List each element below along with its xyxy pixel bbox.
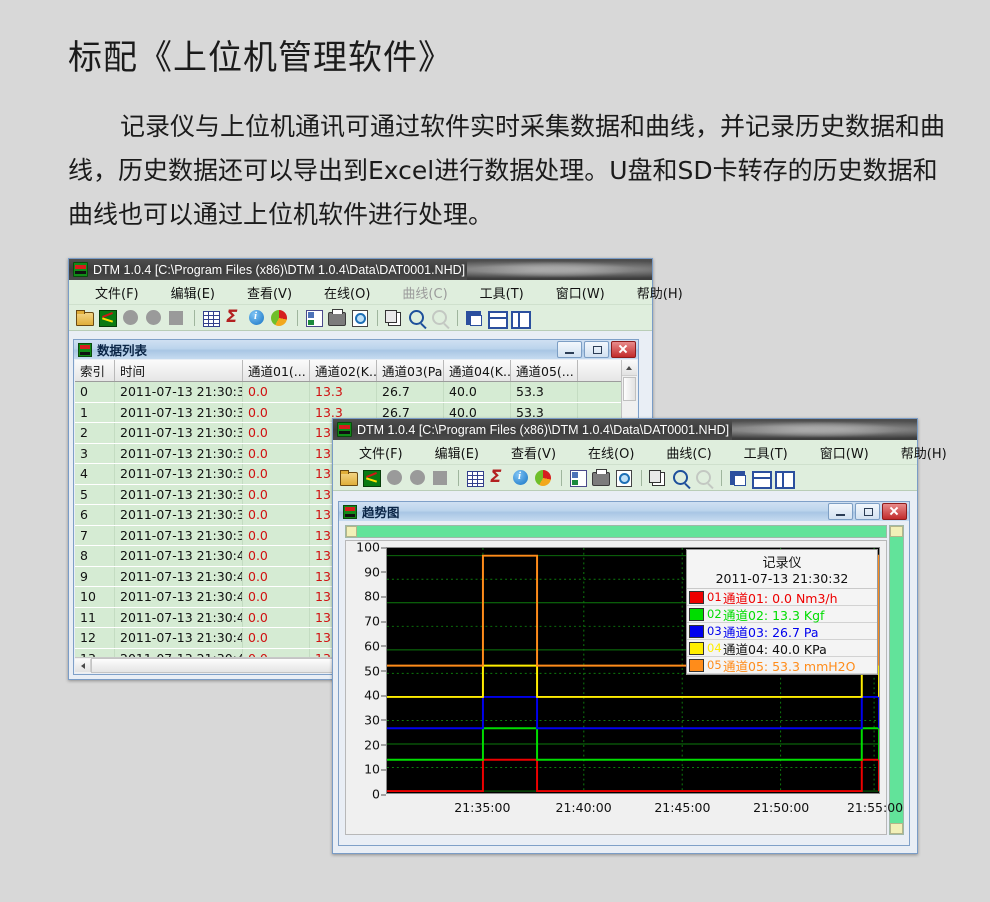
stop-square-icon[interactable] <box>166 308 186 327</box>
cascade-windows-icon[interactable] <box>463 308 483 327</box>
table-cell: 3 <box>75 444 115 464</box>
window-buttons <box>828 503 907 520</box>
info-icon[interactable] <box>510 468 530 487</box>
tile-vertical-icon[interactable] <box>773 468 793 487</box>
toolbar-separator <box>297 310 298 326</box>
x-axis-tick: 21:40:00 <box>556 800 612 815</box>
window-title: DTM 1.0.4 [C:\Program Files (x86)\DTM 1.… <box>93 263 465 277</box>
pause-circle-icon[interactable] <box>407 468 427 487</box>
page-description: 记录仪与上位机通讯可通过软件实时采集数据和曲线，并记录历史数据和曲线，历史数据还… <box>68 105 946 237</box>
sigma-sum-icon[interactable]: Σ <box>223 308 243 327</box>
menu-item-online[interactable]: 在线(O) <box>584 443 638 462</box>
table-cell: 0.0 <box>243 546 310 566</box>
y-axis-tick: 70 <box>364 614 380 629</box>
toolbar-separator <box>194 310 195 326</box>
scroll-handle-left[interactable] <box>346 526 357 537</box>
y-axis-tick: 60 <box>364 638 380 653</box>
y-axis-tick: 50 <box>364 663 380 678</box>
window-buttons <box>557 341 636 358</box>
copy-icon[interactable] <box>383 308 403 327</box>
pause-circle-icon[interactable] <box>143 308 163 327</box>
table-cell: 0.0 <box>243 444 310 464</box>
close-button[interactable] <box>611 341 636 358</box>
app-icon <box>337 422 352 437</box>
legend-channel-number: 03 <box>707 624 723 638</box>
print-preview-icon[interactable] <box>613 468 633 487</box>
column-header[interactable]: 通道01(... <box>243 360 310 381</box>
table-row[interactable]: 02011-07-13 21:30:320.013.326.740.053.3 <box>75 382 621 403</box>
window-icon <box>343 505 357 519</box>
legend-channel-number: 04 <box>707 641 723 655</box>
trend-chart-window: 趋势图 0102030405060708090100 21:35:0021:40 <box>338 501 910 846</box>
table-cell: 0 <box>75 382 115 402</box>
table-cell: 2011-07-13 21:30:40 <box>115 546 243 566</box>
zoom-out-icon <box>693 468 713 487</box>
table-cell: 0.0 <box>243 567 310 587</box>
pie-chart-icon[interactable] <box>269 308 289 327</box>
scroll-handle-bottom[interactable] <box>890 823 903 834</box>
menu-item-help[interactable]: 帮助(H) <box>897 443 951 462</box>
chart-canvas[interactable]: 0102030405060708090100 21:35:0021:40:002… <box>345 540 887 835</box>
column-header[interactable]: 通道03(Pa) <box>377 360 444 381</box>
data-list-title: 数据列表 <box>97 340 147 359</box>
y-axis: 0102030405060708090100 <box>346 541 380 834</box>
table-cell: 2011-07-13 21:30:45 <box>115 649 243 658</box>
y-axis-tick: 90 <box>364 564 380 579</box>
export-excel-icon[interactable] <box>567 468 587 487</box>
window-icon <box>78 343 92 357</box>
table-cell: 0.0 <box>243 526 310 546</box>
table-cell: 26.7 <box>377 382 444 402</box>
toolbar[interactable]: Σ <box>69 305 652 331</box>
y-axis-tick: 20 <box>364 737 380 752</box>
legend-color-swatch <box>689 625 704 638</box>
legend-item[interactable]: 05通道05: 53.3 mmH2O <box>687 657 877 674</box>
trend-chart-titlebar[interactable]: 趋势图 <box>339 502 909 521</box>
table-cell: 6 <box>75 505 115 525</box>
info-icon[interactable] <box>246 308 266 327</box>
y-axis-tick: 30 <box>364 712 380 727</box>
time-range-scrollbar-horizontal[interactable] <box>345 525 887 538</box>
table-cell: 2011-07-13 21:30:44 <box>115 628 243 648</box>
y-axis-tick: 80 <box>364 589 380 604</box>
tile-horizontal-icon[interactable] <box>750 468 770 487</box>
table-cell: 2 <box>75 423 115 443</box>
menu-item-window[interactable]: 窗口(W) <box>552 283 609 302</box>
table-cell: 2011-07-13 21:30:35 <box>115 444 243 464</box>
legend-color-swatch <box>689 591 704 604</box>
table-header-row: 索引时间通道01(...通道02(K...通道03(Pa)通道04(K...通道… <box>75 360 621 382</box>
menu-bar[interactable]: 文件(F) 编辑(E) 查看(V) 在线(O) 曲线(C) 工具(T) 窗口(W… <box>69 280 652 305</box>
pie-chart-icon[interactable] <box>533 468 553 487</box>
toolbar-separator <box>377 310 378 326</box>
cascade-windows-icon[interactable] <box>727 468 747 487</box>
column-header[interactable]: 索引 <box>75 360 115 381</box>
table-cell: 0.0 <box>243 587 310 607</box>
legend-timestamp: 2011-07-13 21:30:32 <box>687 571 877 589</box>
open-folder-icon[interactable] <box>74 308 94 327</box>
window-titlebar[interactable]: DTM 1.0.4 [C:\Program Files (x86)\DTM 1.… <box>333 419 917 440</box>
table-cell: 2011-07-13 21:30:37 <box>115 485 243 505</box>
legend-item[interactable]: 01通道01: 0.0 Nm3/h <box>687 589 877 606</box>
column-header[interactable]: 通道05(... <box>511 360 578 381</box>
scroll-up-button[interactable] <box>622 360 637 376</box>
open-folder-icon[interactable] <box>338 468 358 487</box>
table-grid-icon[interactable] <box>200 308 220 327</box>
stop-square-icon[interactable] <box>430 468 450 487</box>
column-header[interactable]: 通道02(K... <box>310 360 377 381</box>
table-cell: 13 <box>75 649 115 658</box>
table-cell: 2011-07-13 21:30:43 <box>115 608 243 628</box>
trend-line-通道03 <box>387 697 879 728</box>
legend-item[interactable]: 04通道04: 40.0 KPa <box>687 640 877 657</box>
legend-channel-value: 通道05: 53.3 mmH2O <box>723 656 855 675</box>
toolbar-separator <box>721 470 722 486</box>
table-cell: 2011-07-13 21:30:41 <box>115 567 243 587</box>
table-cell: 9 <box>75 567 115 587</box>
table-cell: 40.0 <box>444 382 511 402</box>
y-axis-tick: 0 <box>372 787 380 802</box>
scroll-thumb[interactable] <box>623 377 636 401</box>
x-axis: 21:35:0021:40:0021:45:0021:50:0021:55:00 <box>386 800 880 816</box>
table-cell: 2011-07-13 21:30:34 <box>115 423 243 443</box>
print-icon[interactable] <box>326 308 346 327</box>
x-axis-tick: 21:55:00 <box>847 800 903 815</box>
table-cell: 0.0 <box>243 485 310 505</box>
y-axis-tick: 10 <box>364 762 380 777</box>
minimize-button[interactable] <box>828 503 853 520</box>
menu-item-help[interactable]: 帮助(H) <box>633 283 687 302</box>
table-cell: 11 <box>75 608 115 628</box>
maximize-button[interactable] <box>855 503 880 520</box>
legend-color-swatch <box>689 642 704 655</box>
scroll-handle-top[interactable] <box>890 526 903 537</box>
legend-item[interactable]: 03通道03: 26.7 Pa <box>687 623 877 640</box>
zoom-in-icon[interactable] <box>670 468 690 487</box>
sigma-sum-icon[interactable]: Σ <box>487 468 507 487</box>
table-cell: 5 <box>75 485 115 505</box>
menu-item-tools[interactable]: 工具(T) <box>740 443 792 462</box>
chart-green-icon[interactable] <box>361 468 381 487</box>
table-cell: 2011-07-13 21:30:42 <box>115 587 243 607</box>
table-cell: 12 <box>75 628 115 648</box>
table-grid-icon[interactable] <box>464 468 484 487</box>
tile-vertical-icon[interactable] <box>509 308 529 327</box>
print-preview-icon[interactable] <box>349 308 369 327</box>
menu-bar[interactable]: 文件(F) 编辑(E) 查看(V) 在线(O) 曲线(C) 工具(T) 窗口(W… <box>333 440 917 465</box>
trend-chart-title: 趋势图 <box>362 502 400 521</box>
x-axis-tick: 21:45:00 <box>654 800 710 815</box>
window-titlebar[interactable]: DTM 1.0.4 [C:\Program Files (x86)\DTM 1.… <box>69 259 652 280</box>
page-title: 标配《上位机管理软件》 <box>68 30 453 79</box>
chart-legend[interactable]: 记录仪 2011-07-13 21:30:32 01通道01: 0.0 Nm3/… <box>686 549 878 675</box>
column-header[interactable]: 通道04(K... <box>444 360 511 381</box>
minimize-button[interactable] <box>557 341 582 358</box>
toolbar-separator <box>457 310 458 326</box>
window-title: DTM 1.0.4 [C:\Program Files (x86)\DTM 1.… <box>357 423 729 437</box>
legend-color-swatch <box>689 608 704 621</box>
table-cell: 2011-07-13 21:30:36 <box>115 464 243 484</box>
value-range-scrollbar-vertical[interactable] <box>889 525 904 835</box>
menu-item-online[interactable]: 在线(O) <box>320 283 374 302</box>
legend-item[interactable]: 02通道02: 13.3 Kgf <box>687 606 877 623</box>
legend-color-swatch <box>689 659 704 672</box>
y-axis-tick: 100 <box>356 540 380 555</box>
menu-item-curve[interactable]: 曲线(C) <box>662 443 715 462</box>
table-cell: 0.0 <box>243 403 310 423</box>
x-axis-tick: 21:35:00 <box>454 800 510 815</box>
toolbar[interactable]: Σ <box>333 465 917 491</box>
menu-item-view[interactable]: 查看(V) <box>243 283 296 302</box>
column-header[interactable]: 时间 <box>115 360 243 381</box>
tile-horizontal-icon[interactable] <box>486 308 506 327</box>
table-cell: 1 <box>75 403 115 423</box>
table-cell: 13.3 <box>310 382 377 402</box>
legend-title: 记录仪 <box>687 550 877 571</box>
table-cell: 0.0 <box>243 505 310 525</box>
table-cell: 0.0 <box>243 382 310 402</box>
table-cell: 10 <box>75 587 115 607</box>
table-cell: 0.0 <box>243 649 310 658</box>
table-cell: 7 <box>75 526 115 546</box>
menu-item-file[interactable]: 文件(F) <box>355 443 407 462</box>
table-cell: 2011-07-13 21:30:33 <box>115 403 243 423</box>
menu-item-edit[interactable]: 编辑(E) <box>167 283 219 302</box>
data-list-titlebar[interactable]: 数据列表 <box>74 340 638 359</box>
app-window-front: DTM 1.0.4 [C:\Program Files (x86)\DTM 1.… <box>332 418 918 854</box>
table-cell: 2011-07-13 21:30:32 <box>115 382 243 402</box>
legend-channel-number: 02 <box>707 607 723 621</box>
copy-icon[interactable] <box>647 468 667 487</box>
menu-item-view[interactable]: 查看(V) <box>507 443 560 462</box>
table-cell: 0.0 <box>243 464 310 484</box>
toolbar-separator <box>458 470 459 486</box>
menu-item-edit[interactable]: 编辑(E) <box>431 443 483 462</box>
maximize-button[interactable] <box>584 341 609 358</box>
scroll-left-button[interactable] <box>75 659 91 672</box>
menu-item-tools[interactable]: 工具(T) <box>476 283 528 302</box>
table-cell: 53.3 <box>511 382 578 402</box>
table-cell: 0.0 <box>243 423 310 443</box>
app-icon <box>73 262 88 277</box>
print-icon[interactable] <box>590 468 610 487</box>
y-tick-mark <box>381 794 386 795</box>
close-button[interactable] <box>882 503 907 520</box>
zoom-in-icon[interactable] <box>406 308 426 327</box>
table-cell: 0.0 <box>243 628 310 648</box>
table-cell: 2011-07-13 21:30:39 <box>115 526 243 546</box>
zoom-out-icon <box>429 308 449 327</box>
record-circle-icon[interactable] <box>384 468 404 487</box>
toolbar-separator <box>641 470 642 486</box>
toolbar-separator <box>561 470 562 486</box>
table-cell: 4 <box>75 464 115 484</box>
legend-channel-number: 05 <box>707 658 723 672</box>
menu-item-curve: 曲线(C) <box>398 283 451 302</box>
legend-items[interactable]: 01通道01: 0.0 Nm3/h02通道02: 13.3 Kgf03通道03:… <box>687 589 877 674</box>
chart-green-icon[interactable] <box>97 308 117 327</box>
legend-channel-number: 01 <box>707 590 723 604</box>
menu-item-file[interactable]: 文件(F) <box>91 283 143 302</box>
export-excel-icon[interactable] <box>303 308 323 327</box>
trend-line-通道01 <box>387 760 879 791</box>
record-circle-icon[interactable] <box>120 308 140 327</box>
table-cell: 8 <box>75 546 115 566</box>
table-cell: 2011-07-13 21:30:38 <box>115 505 243 525</box>
menu-item-window[interactable]: 窗口(W) <box>816 443 873 462</box>
table-cell: 0.0 <box>243 608 310 628</box>
y-axis-tick: 40 <box>364 688 380 703</box>
x-axis-tick: 21:50:00 <box>753 800 809 815</box>
